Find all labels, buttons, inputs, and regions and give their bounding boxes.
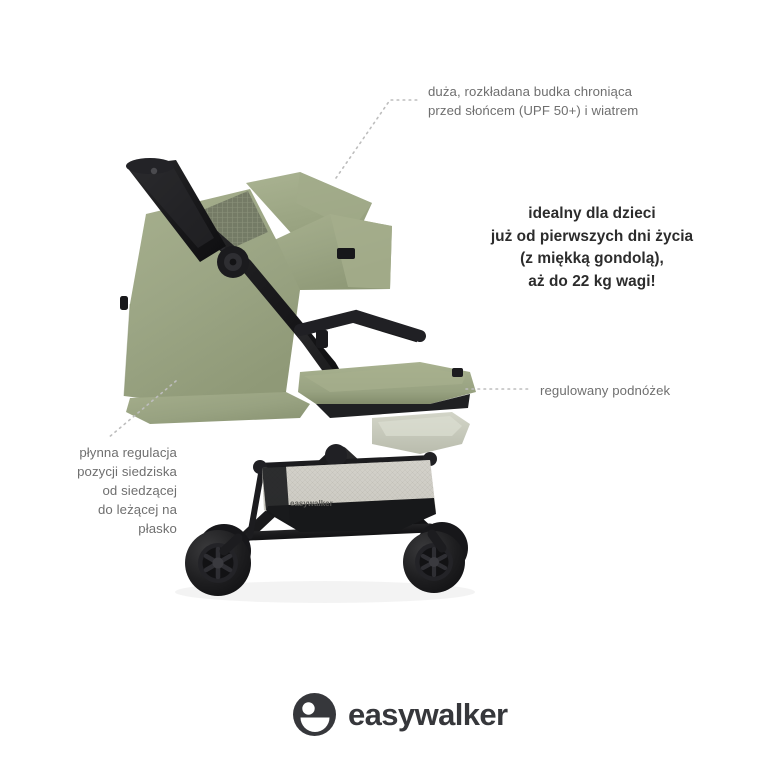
canopy-tab-left (120, 296, 128, 310)
canopy-hinge-hub (217, 246, 249, 278)
infographic-canvas: easywalker (0, 0, 762, 762)
storage-basket: easywalker (262, 460, 436, 532)
basket-brand-text: easywalker (290, 499, 333, 508)
callout-footrest: regulowany podnóżek (540, 381, 670, 400)
canopy-brand-tab (337, 248, 355, 259)
headline-text: idealny dla dzieci już od pierwszych dni… (462, 203, 722, 293)
handlebar-cap (126, 158, 174, 174)
frame-joint-center (325, 444, 347, 466)
handlebar-button (151, 168, 157, 174)
easywalker-wordmark: easywalker (348, 699, 507, 730)
callout-recline: płynna regulacja pozycji siedziska od si… (57, 443, 177, 538)
easywalker-logo: easywalker (292, 692, 507, 737)
seat-tab (452, 368, 463, 377)
seat-assembly (298, 316, 476, 454)
callout-canopy: duża, rozkładana budka chroniąca przed s… (428, 82, 638, 120)
bumper-clip (316, 330, 328, 348)
easywalker-circle-icon (292, 692, 337, 737)
